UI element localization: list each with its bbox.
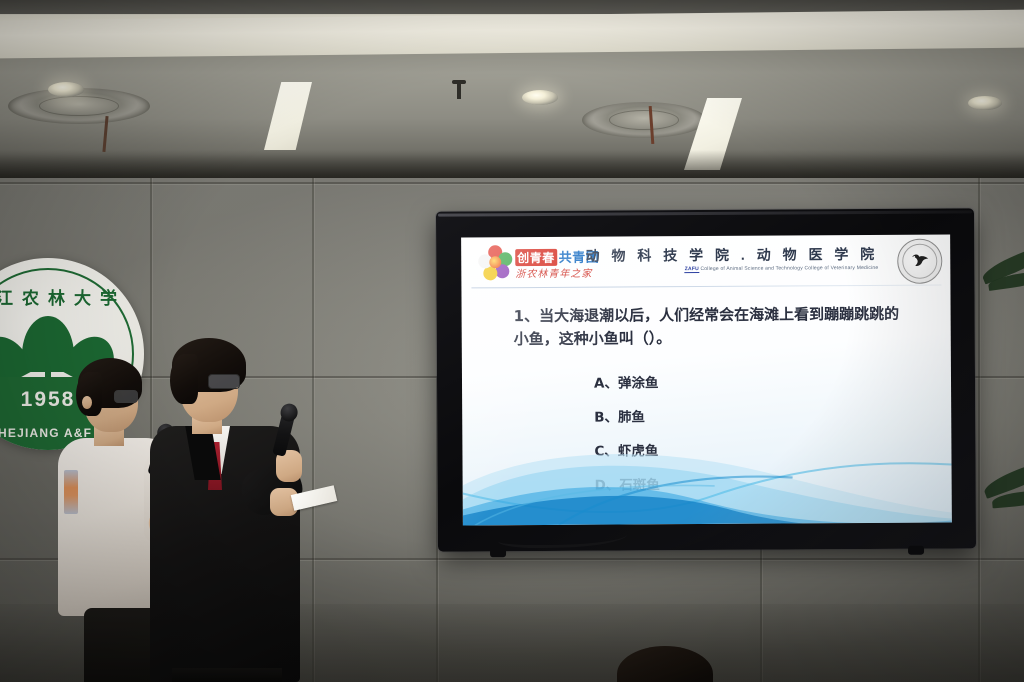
slide-header-divider [471, 285, 941, 289]
college-english-prefix: ZAFU [685, 266, 699, 273]
hair-side [76, 372, 102, 416]
tv-mount-foot-right [908, 546, 924, 555]
suit-trousers [172, 668, 282, 682]
youth-league-flower-icon [478, 245, 512, 279]
youth-league-subtitle: 浙农林青年之家 [515, 265, 592, 280]
downlight-2 [522, 90, 558, 105]
tv-bezel-highlight [438, 210, 972, 216]
answer-option-b[interactable]: B、肺鱼 [594, 405, 659, 425]
youth-league-boxed-text: 创青春 [515, 249, 557, 266]
seal-bird-glyph [909, 253, 931, 270]
college-english-text: College of Animal Science and Technology… [700, 265, 878, 272]
ceiling-mount-stem [457, 83, 461, 99]
college-seal-icon [897, 239, 942, 284]
ear [82, 396, 92, 409]
petal-yellow [483, 266, 497, 280]
presenter-in-black-suit [150, 338, 320, 682]
wave-svg [462, 437, 952, 526]
college-chinese-name: 动 物 科 技 学 院 . 动 物 医 学 院 [585, 244, 878, 266]
answer-option-a[interactable]: A、弹涂鱼 [594, 371, 659, 391]
ceiling-cream-band [0, 10, 1024, 59]
tv-cable [498, 524, 628, 548]
lecture-hall-photo: 浙江农林大学 1958 ZHEJIANG A&F U [0, 0, 1024, 682]
question-text: 1、当大海退潮以后，人们经常会在海滩上看到蹦蹦跳跳的小鱼，这种小鱼叫（）。 [514, 303, 914, 351]
emblem-chinese-text: 浙江农林大学 [0, 284, 144, 309]
downlight-3 [968, 96, 1002, 110]
ceiling-panel-light-1 [264, 82, 312, 150]
downlight-1 [48, 82, 84, 97]
ceiling [0, 0, 1024, 182]
flower-center [489, 256, 501, 268]
wall-mounted-display[interactable]: 创青春共青团 浙农林青年之家 动 物 科 技 学 院 . 动 物 医 学 院 Z… [436, 208, 976, 551]
slide-header: 创青春共青团 浙农林青年之家 动 物 科 技 学 院 . 动 物 医 学 院 Z… [461, 235, 950, 288]
microphone-head [279, 402, 300, 424]
eyeglasses [208, 374, 240, 389]
wall-seam-h-1 [0, 182, 1024, 184]
slide-wave-decoration [462, 437, 952, 526]
eyeglasses [114, 390, 138, 403]
college-english-name: ZAFU College of Animal Science and Techn… [685, 265, 879, 272]
tv-mount-foot-left [490, 548, 506, 557]
air-diffuser-center [582, 102, 706, 138]
display-screen: 创青春共青团 浙农林青年之家 动 物 科 技 学 院 . 动 物 医 学 院 Z… [461, 235, 952, 526]
tshirt-sleeve-print [64, 470, 78, 514]
hair-side [170, 354, 198, 404]
